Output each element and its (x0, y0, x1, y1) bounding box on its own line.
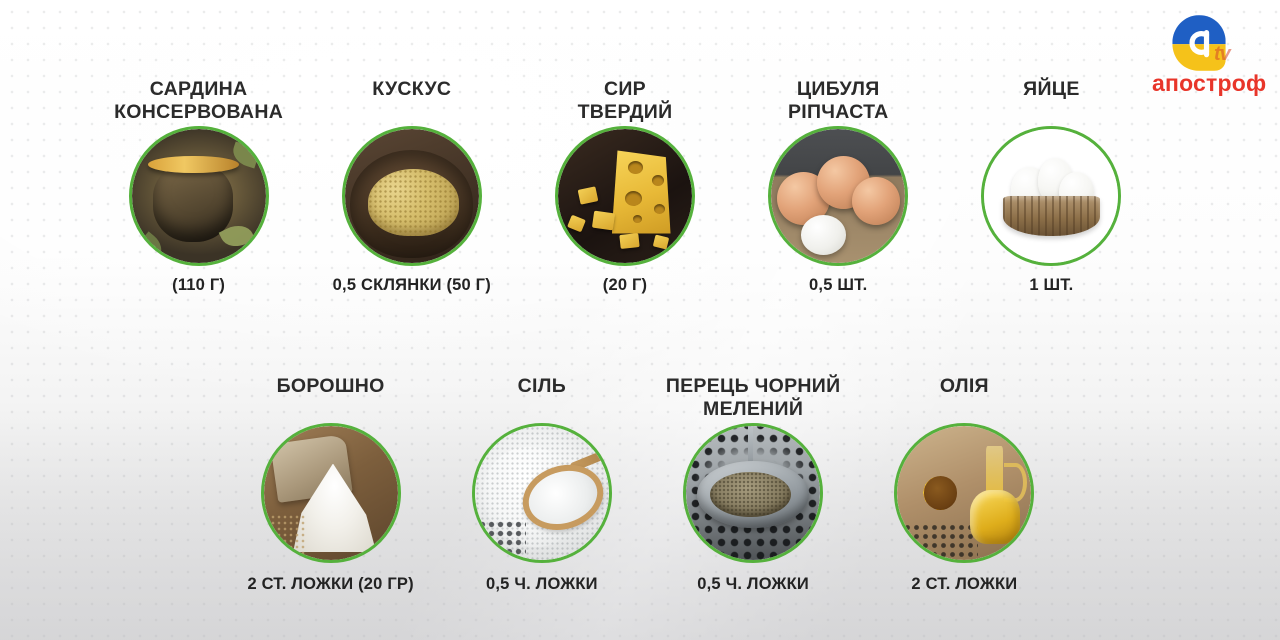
ingredient-card-couscous[interactable]: КУСКУС 0,5 СКЛЯНКИ (50 Г) (305, 78, 518, 294)
bay-leaf-icon (229, 142, 260, 169)
ingredient-amount: (20 Г) (603, 277, 647, 294)
eggs-in-basket-photo (984, 129, 1118, 263)
ingredient-amount: 0,5 Ч. ЛОЖКИ (486, 576, 598, 593)
apostrophe-logo[interactable]: tv апостроф (1152, 14, 1258, 106)
canned-sardine-photo (132, 129, 266, 263)
cheese-cube (592, 211, 615, 231)
bay-leaf-icon (219, 219, 256, 252)
tv-label: tv (1214, 44, 1230, 64)
brand-wordmark: апостроф (1152, 72, 1258, 95)
ingredient-amount: 2 СТ. ЛОЖКИ (20 ГР) (247, 576, 413, 593)
ingredient-photo-circle (768, 126, 908, 266)
ingredient-card-black-pepper[interactable]: ПЕРЕЦЬ ЧОРНИЙ МЕЛЕНИЙ 0,5 Ч. ЛОЖКИ (648, 375, 859, 593)
salt-photo (475, 426, 609, 560)
sunflower-oil-photo (897, 426, 1031, 560)
ingredient-photo-circle (894, 423, 1034, 563)
cheese-hole (652, 175, 664, 186)
sunflower-icon (905, 458, 975, 528)
ingredient-photo-circle (261, 423, 401, 563)
ingredient-title: КУСКУС (372, 78, 451, 124)
cheese-cube (578, 186, 599, 204)
ingredient-amount: 2 СТ. ЛОЖКИ (911, 576, 1017, 593)
ingredient-title: ОЛІЯ (940, 375, 989, 421)
basket-icon (1003, 196, 1099, 236)
ingredient-photo-circle (981, 126, 1121, 266)
ingredient-photo-circle (129, 126, 269, 266)
hard-cheese-photo (558, 129, 692, 263)
couscous-bowl-photo (345, 129, 479, 263)
ingredient-amount: 0,5 Ч. ЛОЖКИ (697, 576, 809, 593)
cheese-cube (567, 215, 586, 233)
ingredient-amount: (110 Г) (172, 277, 225, 294)
ingredient-card-flour[interactable]: БОРОШНО 2 СТ. ЛОЖКИ (20 ГР) (225, 375, 436, 593)
ingredient-title: САРДИНА КОНСЕРВОВАНА (114, 78, 283, 124)
ingredient-photo-circle (683, 423, 823, 563)
cheese-cube (619, 233, 639, 249)
infographic-stage: tv апостроф САРДИНА КОНСЕРВОВАНА (110 Г)… (0, 0, 1280, 640)
ground-pepper-texture (710, 472, 790, 518)
ingredient-card-sardine[interactable]: САРДИНА КОНСЕРВОВАНА (110 Г) (92, 78, 305, 294)
ingredient-title: ЦИБУЛЯ РІПЧАСТА (788, 78, 889, 124)
ingredient-title: СІЛЬ (518, 375, 566, 421)
ingredient-card-hard-cheese[interactable]: СИР ТВЕРДИЙ (20 Г) (518, 78, 731, 294)
ingredient-title: БОРОШНО (277, 375, 385, 421)
ingredient-photo-circle (555, 126, 695, 266)
onion-bulb (852, 177, 900, 225)
dark-grains (478, 520, 526, 560)
ingredient-card-oil[interactable]: ОЛІЯ (859, 375, 1070, 593)
ingredient-amount: 1 ШТ. (1029, 277, 1073, 294)
ingredient-card-onion[interactable]: ЦИБУЛЯ РІПЧАСТА 0,5 ШТ. (732, 78, 945, 294)
oil-bottle-icon (967, 439, 1023, 544)
bay-leaf-icon (137, 231, 167, 260)
ingredient-card-salt[interactable]: СІЛЬ 0,5 Ч. ЛОЖКИ (436, 375, 647, 593)
onion-photo (771, 129, 905, 263)
peeled-onion (801, 215, 847, 255)
cheese-cube (653, 235, 669, 250)
ingredient-card-egg[interactable]: ЯЙЦЕ 1 ШТ. (945, 78, 1158, 294)
grain-texture (264, 514, 307, 560)
ingredient-title: СИР ТВЕРДИЙ (578, 78, 673, 124)
ingredient-photo-circle (472, 423, 612, 563)
ingredient-row-1: САРДИНА КОНСЕРВОВАНА (110 Г) КУСКУС 0,5 … (92, 78, 1158, 294)
ingredient-photo-circle (342, 126, 482, 266)
grain-texture (368, 169, 459, 236)
ingredient-title: ЯЙЦЕ (1023, 78, 1079, 124)
cheese-hole (633, 215, 642, 223)
cheese-hole (628, 161, 643, 174)
ingredient-row-2: БОРОШНО 2 СТ. ЛОЖКИ (20 ГР) СІЛЬ (225, 375, 1070, 593)
ingredient-amount: 0,5 СКЛЯНКИ (50 Г) (333, 277, 491, 294)
flour-photo (264, 426, 398, 560)
ground-black-pepper-photo (686, 426, 820, 560)
ingredient-title: ПЕРЕЦЬ ЧОРНИЙ МЕЛЕНИЙ (666, 375, 841, 421)
ingredient-amount: 0,5 ШТ. (809, 277, 867, 294)
cheese-hole (625, 191, 642, 206)
